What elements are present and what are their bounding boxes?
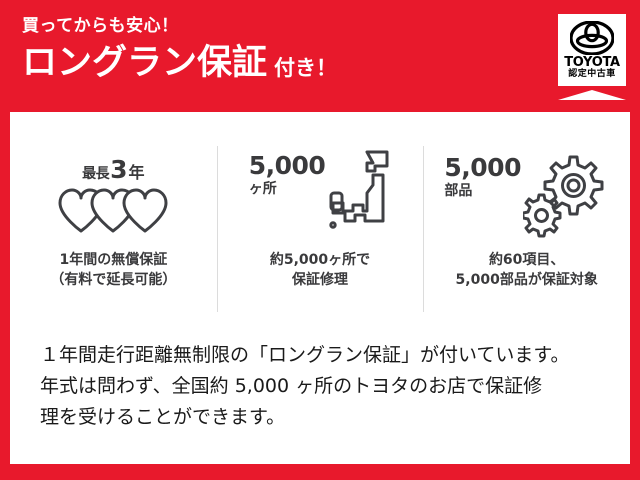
feature-visual-gears: 5,000 部品	[444, 140, 609, 250]
warranty-period-prefix: 最長	[82, 167, 109, 181]
feature-caption-warranty: 1年間の無償保証 （有料で延長可能）	[50, 250, 176, 291]
three-hearts-icon	[57, 186, 169, 234]
toyota-certified-badge: TOYOTA 認定中古車	[558, 14, 626, 100]
caption-line-2: 5,000部品が保証対象	[456, 270, 598, 290]
description-paragraph: １年間走行距離無制限の「ロングラン保証」が付いています。 年式は問わず、全国約 …	[40, 340, 610, 432]
locations-stat: 5,000 ヶ所	[249, 149, 326, 196]
paragraph-line-2: 年式は問わず、全国約 5,000 ヶ所のトヨタのお店で保証修	[40, 371, 610, 402]
feature-covered-parts: 5,000 部品	[423, 140, 630, 330]
badge-red-swoosh-icon	[558, 84, 626, 100]
warranty-period-number: 3	[110, 157, 127, 182]
feature-caption-parts: 約60項目、 5,000部品が保証対象	[456, 250, 598, 291]
parts-number: 5,000	[444, 155, 521, 180]
caption-line-2: （有料で延長可能）	[50, 270, 176, 290]
parts-unit: 部品	[444, 184, 521, 198]
warranty-period-unit: 年	[129, 165, 145, 181]
content-panel: 最長 3 年 1年間の無償	[10, 112, 630, 464]
toyota-badge-subtitle: 認定中古車	[558, 70, 626, 79]
header-text-block: 買ってからも安心！ ロングラン保証 付き！	[22, 18, 337, 81]
parts-stat: 5,000 部品	[444, 151, 521, 198]
caption-line-1: 1年間の無償保証	[50, 250, 176, 270]
features-row: 最長 3 年 1年間の無償	[10, 140, 630, 330]
japan-map-icon	[329, 149, 391, 241]
headline-row: ロングラン保証 付き！	[22, 46, 337, 81]
locations-number: 5,000	[249, 153, 326, 178]
toyota-wordmark: TOYOTA	[558, 56, 626, 69]
headline-suffix: 付き！	[274, 58, 337, 81]
feature-caption-locations: 約5,000ヶ所で 保証修理	[270, 250, 370, 291]
headline-main: ロングラン保証	[22, 46, 267, 81]
paragraph-line-3: 理を受けることができます。	[40, 402, 610, 433]
warranty-period-label: 最長 3 年	[82, 157, 144, 182]
feature-visual-hearts: 最長 3 年	[57, 140, 169, 250]
caption-line-1: 約5,000ヶ所で	[270, 250, 370, 270]
caption-line-1: 約60項目、	[456, 250, 598, 270]
feature-warranty-period: 最長 3 年 1年間の無償	[10, 140, 217, 330]
locations-unit: ヶ所	[249, 182, 326, 196]
paragraph-line-1: １年間走行距離無制限の「ロングラン保証」が付いています。	[40, 340, 610, 371]
feature-service-locations: 5,000 ヶ所 約	[217, 140, 424, 330]
caption-line-2: 保証修理	[270, 270, 370, 290]
advertisement-banner: 買ってからも安心！ ロングラン保証 付き！ TOYOTA 認定中古車	[0, 0, 640, 480]
feature-visual-japan-map: 5,000 ヶ所	[249, 140, 392, 250]
header-banner: 買ってからも安心！ ロングラン保証 付き！ TOYOTA 認定中古車	[0, 0, 640, 112]
header-kicker: 買ってからも安心！	[22, 18, 337, 35]
toyota-emblem-icon	[570, 21, 614, 55]
gears-icon	[523, 151, 609, 239]
